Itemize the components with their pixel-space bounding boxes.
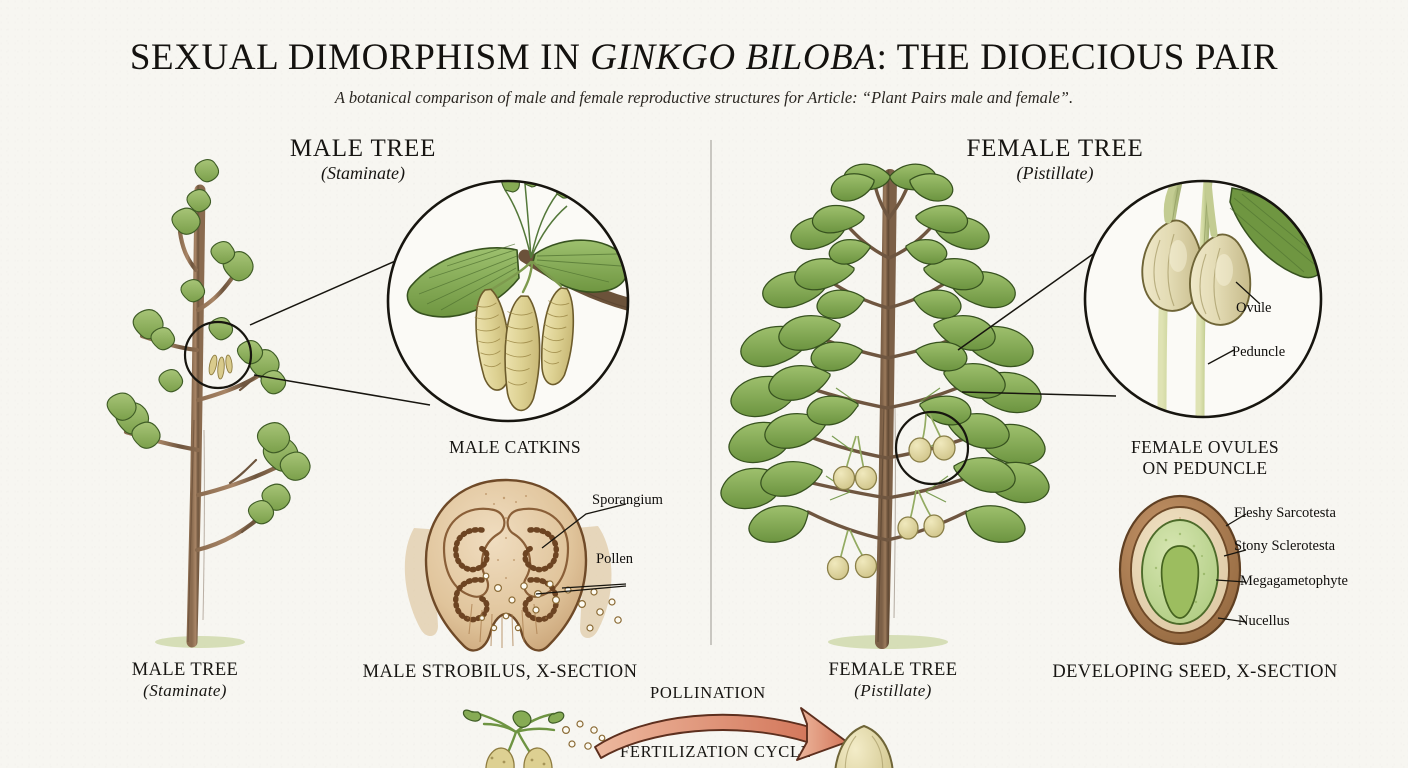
male-tree-caption-sub: (Staminate)	[60, 681, 310, 700]
label-ovule: Ovule	[1236, 300, 1271, 317]
label-peduncle: Peduncle	[1232, 344, 1285, 361]
male-tree-caption: MALE TREE (Staminate)	[60, 660, 310, 700]
page-title: SEXUAL DIMORPHISM IN GINKGO BILOBA: THE …	[0, 36, 1408, 79]
column-divider	[710, 140, 712, 645]
label-megagametophyte: Megagametophyte	[1240, 573, 1348, 590]
male-callout-caption: MALE CATKINS	[390, 437, 640, 458]
female-ovules-detail-circle	[1082, 178, 1328, 424]
female-tree-caption-main: FEMALE TREE	[829, 660, 958, 680]
female-tree-caption: FEMALE TREE (Pistillate)	[768, 660, 1018, 700]
label-fleshy-sarcotesta: Fleshy Sarcotesta	[1234, 505, 1336, 522]
label-nucellus: Nucellus	[1238, 613, 1290, 630]
poster-canvas: SEXUAL DIMORPHISM IN GINKGO BILOBA: THE …	[0, 0, 1408, 768]
male-section-caption: MALE STROBILUS, X-SECTION	[340, 662, 660, 683]
airborne-pollen	[563, 721, 605, 749]
pollination-source-catkins	[462, 706, 642, 768]
female-callout-caption: FEMALE OVULES ON PEDUNCLE	[1075, 437, 1335, 480]
title-pre: SEXUAL DIMORPHISM IN	[130, 37, 590, 78]
label-pollen: Pollen	[596, 551, 633, 568]
title-post: : THE DIOECIOUS PAIR	[877, 37, 1279, 78]
male-tree-catkin-cluster	[208, 355, 233, 380]
label-stony-sclerotesta: Stony Sclerotesta	[1234, 538, 1335, 555]
pollination-target-ovule	[826, 724, 906, 768]
male-catkins-detail-circle	[385, 178, 635, 424]
title-species: GINKGO BILOBA	[590, 37, 876, 78]
female-tree-caption-sub: (Pistillate)	[768, 681, 1018, 700]
page-subtitle: A botanical comparison of male and femal…	[0, 88, 1408, 108]
female-callout-caption-line1: FEMALE OVULES	[1075, 437, 1335, 458]
female-section-caption: DEVELOPING SEED, X-SECTION	[1040, 662, 1350, 683]
label-sporangium: Sporangium	[592, 492, 663, 509]
female-callout-caption-line2: ON PEDUNCLE	[1075, 458, 1335, 479]
male-tree-caption-main: MALE TREE	[132, 660, 239, 680]
